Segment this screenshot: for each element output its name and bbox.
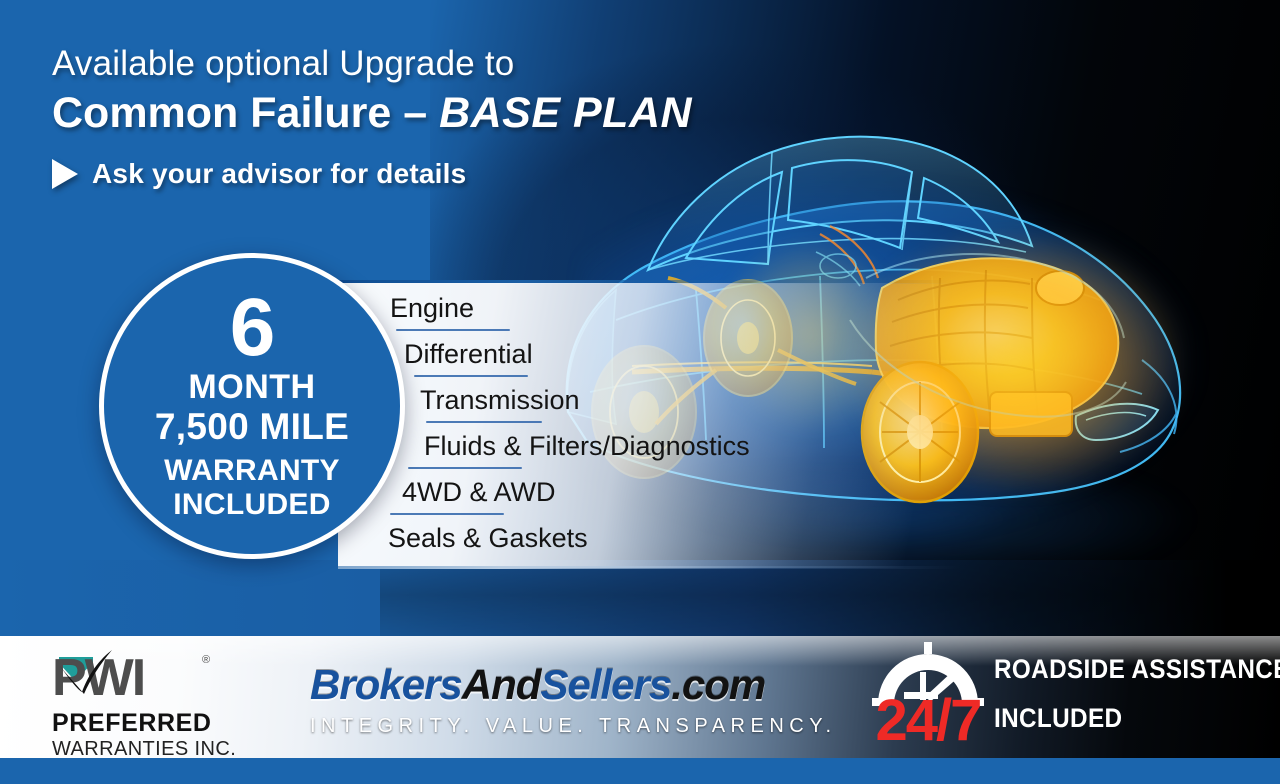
registered-trademark-icon: ® (202, 654, 210, 666)
roadside-text-group: ROADSIDE ASSISTANCE INCLUDED (994, 640, 1280, 732)
roadside-icon-group: 24/7 (868, 640, 988, 752)
coverage-item-label: Engine (390, 289, 474, 327)
badge-term-number: 6 (230, 289, 275, 367)
badge-term-unit: MONTH (188, 369, 315, 406)
headline-plan-emphasis: BASE PLAN (439, 89, 692, 137)
pwi-tagline-line2: WARRANTIES INC. (52, 738, 237, 761)
coverage-item: Engine (338, 289, 958, 335)
checkmark-swoosh-icon (56, 650, 118, 694)
advisor-callout-text: Ask your advisor for details (92, 158, 466, 190)
pwi-logo: PWI ® PREFERRED WARRANTIES INC. (52, 656, 237, 748)
brokers-part4: .com (671, 661, 765, 708)
warranty-badge: 6 MONTH 7,500 MILE WARRANTY INCLUDED (99, 253, 405, 559)
coverage-item-label: Seals & Gaskets (388, 519, 588, 557)
brokers-tagline: INTEGRITY. VALUE. TRANSPARENCY. (310, 715, 810, 738)
coverage-item-divider (408, 467, 522, 469)
brokers-wordmark: BrokersAndSellers.com (310, 664, 810, 706)
coverage-item: 4WD & AWD (338, 473, 958, 519)
promo-banner: Available optional Upgrade to Common Fai… (0, 0, 1280, 784)
coverage-item-label: 4WD & AWD (402, 473, 556, 511)
pwi-tagline-line1: PREFERRED (52, 710, 237, 738)
brokers-part2: And (462, 661, 541, 708)
coverage-item-divider (426, 421, 542, 423)
headline-line2-plain: Common Failure – (52, 89, 439, 137)
play-triangle-icon (52, 159, 78, 189)
coverage-item-label: Transmission (420, 381, 580, 419)
brokers-part3: Sellers (540, 661, 671, 708)
coverage-item-label: Differential (404, 335, 533, 373)
pwi-wordmark: PWI ® (52, 656, 212, 706)
brokersandsellers-logo[interactable]: BrokersAndSellers.com INTEGRITY. VALUE. … (310, 664, 810, 750)
badge-mileage: 7,500 MILE (155, 406, 349, 447)
coverage-item: Seals & Gaskets (338, 519, 958, 565)
advisor-callout-row: Ask your advisor for details (52, 158, 792, 190)
coverage-list: EngineDifferentialTransmissionFluids & F… (338, 283, 958, 574)
badge-warranty-line1: WARRANTY (164, 454, 340, 489)
roadside-line1: ROADSIDE ASSISTANCE (994, 656, 1280, 683)
headline-line2: Common Failure – BASE PLAN (52, 88, 792, 140)
roadside-line2: INCLUDED (994, 705, 1280, 732)
coverage-item-label: Fluids & Filters/Diagnostics (424, 427, 750, 465)
coverage-item: Transmission (338, 381, 958, 427)
coverage-item-divider (414, 375, 528, 377)
coverage-item: Differential (338, 335, 958, 381)
badge-warranty-line2: INCLUDED (173, 488, 330, 523)
coverage-item: Fluids & Filters/Diagnostics (338, 427, 958, 473)
headline-block: Available optional Upgrade to Common Fai… (52, 44, 792, 190)
coverage-item-divider (390, 513, 504, 515)
brokers-part1: Brokers (310, 661, 462, 708)
coverage-item-divider (396, 329, 510, 331)
headline-line1: Available optional Upgrade to (52, 44, 792, 84)
roadside-assistance-block: 24/7 ROADSIDE ASSISTANCE INCLUDED (868, 640, 1268, 752)
roadside-hours: 24/7 (868, 692, 988, 750)
